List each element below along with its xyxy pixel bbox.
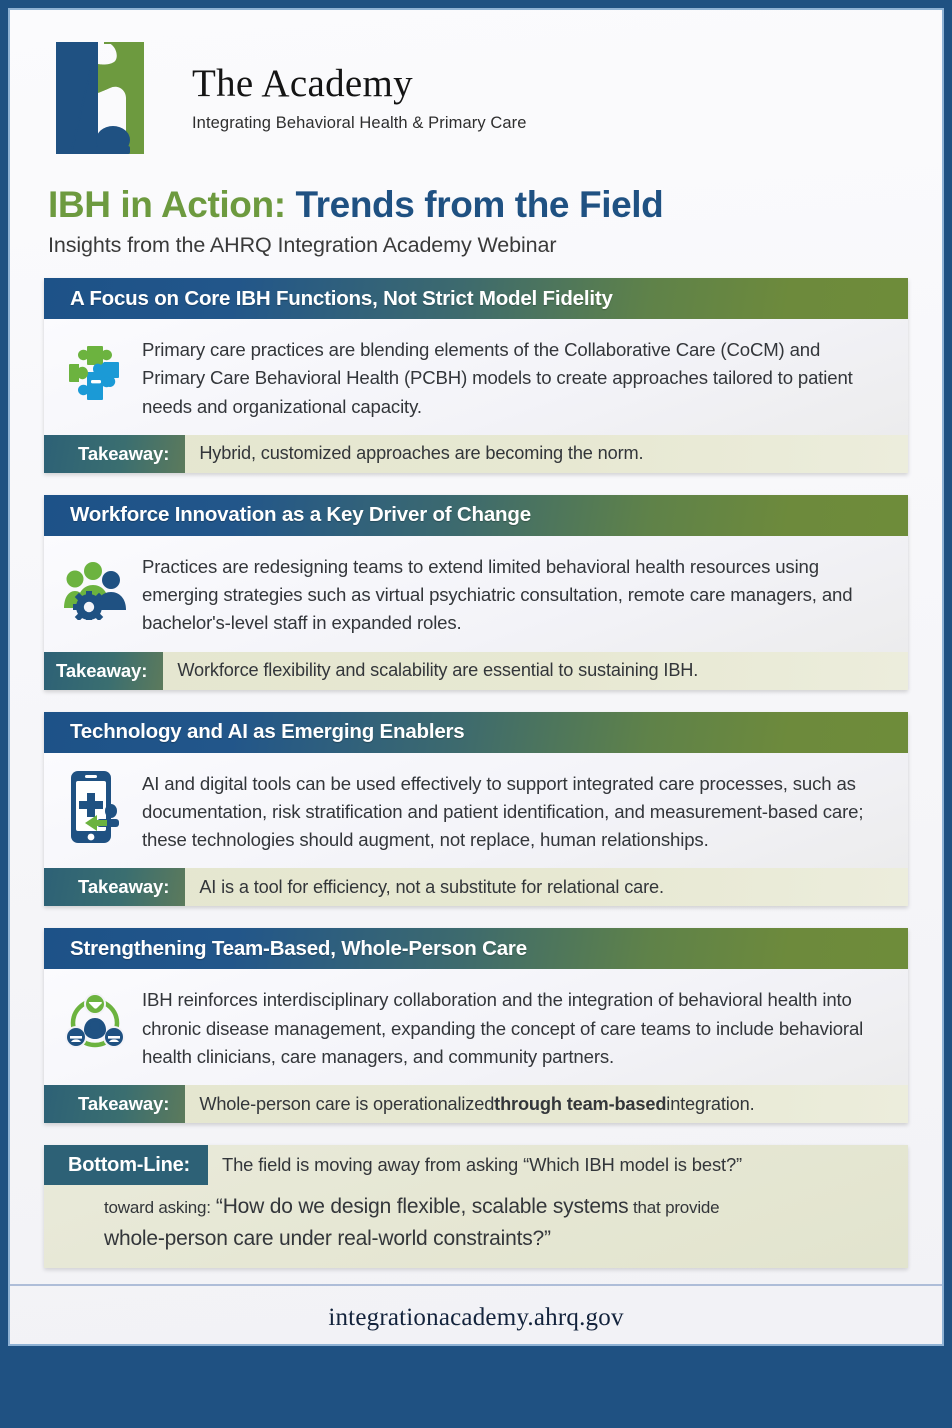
bottom-line-text2-big: “How do we design flexible, scalable sys… bbox=[216, 1195, 629, 1218]
footer-url[interactable]: integrationacademy.ahrq.gov bbox=[10, 1304, 942, 1332]
puzzle-pieces-icon bbox=[62, 335, 128, 407]
section-body-4: IBH reinforces interdisciplinary collabo… bbox=[44, 969, 908, 1085]
bottom-line-row1: Bottom-Line: The field is moving away fr… bbox=[44, 1145, 908, 1185]
page-subtitle: Insights from the AHRQ Integration Acade… bbox=[44, 233, 908, 258]
section-card-4: Strengthening Team-Based, Whole-Person C… bbox=[44, 928, 908, 1123]
page-frame: The Academy Integrating Behavioral Healt… bbox=[8, 8, 944, 1346]
bottom-line-text3: whole-person care under real-world const… bbox=[104, 1223, 884, 1255]
mobile-health-icon bbox=[62, 769, 128, 841]
takeaway-text-4: Whole-person care is operationalized thr… bbox=[185, 1085, 768, 1123]
takeaway-text-4-post: integration. bbox=[666, 1094, 754, 1115]
bottom-line-text1: The field is moving away from asking “Wh… bbox=[208, 1145, 742, 1185]
section-text-3: AI and digital tools can be used effecti… bbox=[142, 769, 886, 855]
section-heading-3: Technology and AI as Emerging Enablers bbox=[44, 712, 908, 753]
brand-name: The Academy bbox=[192, 64, 527, 105]
section-takeaway-2: Takeaway: Workforce flexibility and scal… bbox=[44, 652, 908, 690]
section-card-3: Technology and AI as Emerging Enablers bbox=[44, 712, 908, 907]
bottom-line-row2: toward asking: “How do we design flexibl… bbox=[44, 1185, 908, 1254]
takeaway-text-4-bold: through team-based bbox=[494, 1094, 666, 1115]
section-body-2: Practices are redesigning teams to exten… bbox=[44, 536, 908, 652]
takeaway-text-2: Workforce flexibility and scalability ar… bbox=[163, 652, 712, 690]
section-takeaway-4: Takeaway: Whole-person care is operation… bbox=[44, 1085, 908, 1123]
bottom-line-text2-small2: that provide bbox=[628, 1198, 719, 1217]
section-heading-1: A Focus on Core IBH Functions, Not Stric… bbox=[44, 278, 908, 319]
section-card-2: Workforce Innovation as a Key Driver of … bbox=[44, 495, 908, 690]
takeaway-text-4-pre: Whole-person care is operationalized bbox=[199, 1094, 494, 1115]
takeaway-text-1: Hybrid, customized approaches are becomi… bbox=[185, 435, 657, 473]
section-text-4: IBH reinforces interdisciplinary collabo… bbox=[142, 985, 886, 1071]
bottom-line-block: Bottom-Line: The field is moving away fr… bbox=[44, 1145, 908, 1268]
page-inner: The Academy Integrating Behavioral Healt… bbox=[10, 10, 942, 1344]
connected-people-icon bbox=[62, 985, 128, 1057]
bottom-line-label: Bottom-Line: bbox=[44, 1145, 208, 1185]
team-gear-icon bbox=[62, 552, 128, 624]
brand-logo-row: The Academy Integrating Behavioral Healt… bbox=[44, 36, 908, 158]
takeaway-label-4: Takeaway: bbox=[44, 1085, 185, 1123]
brand-text: The Academy Integrating Behavioral Healt… bbox=[192, 36, 527, 133]
takeaway-label-3: Takeaway: bbox=[44, 868, 185, 906]
section-takeaway-3: Takeaway: AI is a tool for efficiency, n… bbox=[44, 868, 908, 906]
section-heading-4: Strengthening Team-Based, Whole-Person C… bbox=[44, 928, 908, 969]
section-body-3: AI and digital tools can be used effecti… bbox=[44, 753, 908, 869]
section-heading-2: Workforce Innovation as a Key Driver of … bbox=[44, 495, 908, 536]
section-card-1: A Focus on Core IBH Functions, Not Stric… bbox=[44, 278, 908, 473]
section-text-1: Primary care practices are blending elem… bbox=[142, 335, 886, 421]
page-title-part2: Trends from the Field bbox=[296, 184, 664, 225]
page-title: IBH in Action: Trends from the Field bbox=[44, 184, 908, 226]
page-title-part1: IBH in Action: bbox=[48, 184, 286, 225]
takeaway-text-3: AI is a tool for efficiency, not a subst… bbox=[185, 868, 678, 906]
brand-tagline: Integrating Behavioral Health & Primary … bbox=[192, 114, 527, 133]
infographic-page: The Academy Integrating Behavioral Healt… bbox=[0, 0, 952, 1428]
academy-a-logo-icon bbox=[52, 36, 174, 158]
section-body-1: Primary care practices are blending elem… bbox=[44, 319, 908, 435]
takeaway-label-2: Takeaway: bbox=[44, 652, 163, 690]
bottom-line-text2-small: toward asking: bbox=[104, 1198, 211, 1217]
footer-divider bbox=[10, 1284, 942, 1286]
section-text-2: Practices are redesigning teams to exten… bbox=[142, 552, 886, 638]
section-takeaway-1: Takeaway: Hybrid, customized approaches … bbox=[44, 435, 908, 473]
takeaway-label-1: Takeaway: bbox=[44, 435, 185, 473]
